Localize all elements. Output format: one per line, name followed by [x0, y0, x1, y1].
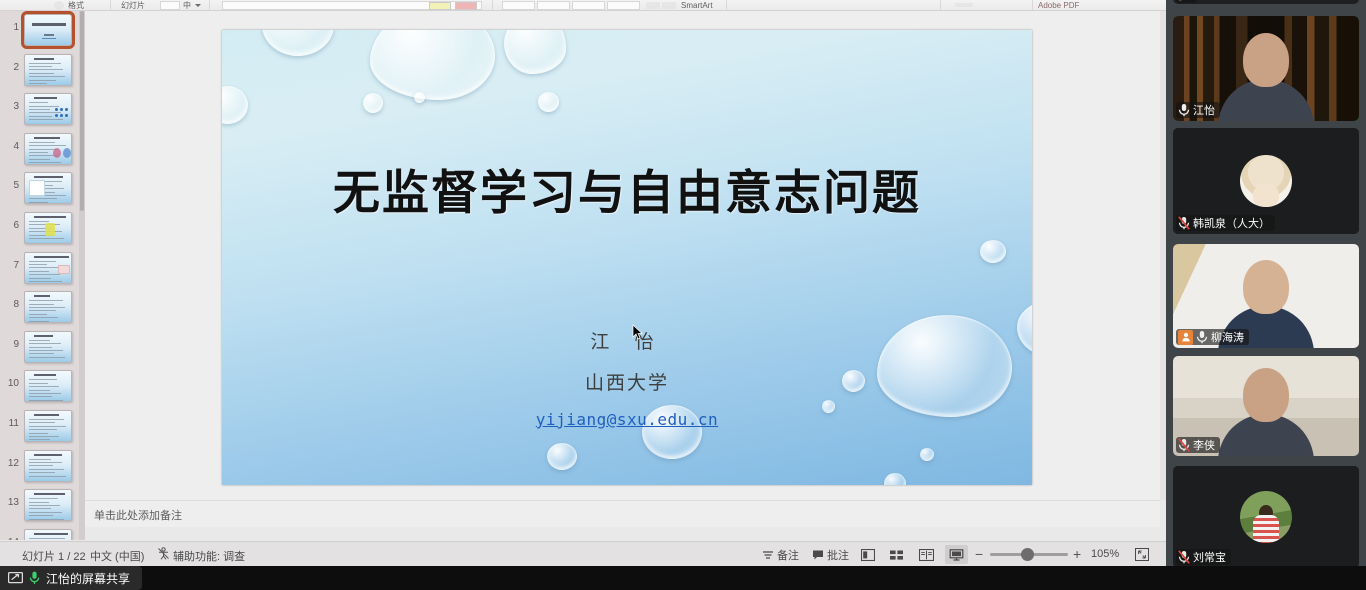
align-group-4[interactable] — [607, 1, 640, 10]
thumbnail-number: 4 — [5, 141, 19, 152]
participant-tile[interactable]: 李侠 — [1173, 356, 1359, 456]
slide-edit-area: 无监督学习与自由意志问题 江 怡 山西大学 yijiang@sxu.edu.cn — [85, 11, 1160, 500]
highlight-swatch[interactable] — [429, 2, 451, 10]
thumbnail-preview[interactable] — [24, 54, 72, 86]
slide-affiliation[interactable]: 山西大学 — [222, 368, 1032, 395]
comments-toggle-button[interactable]: 批注 — [808, 545, 853, 564]
chevron-down-icon[interactable] — [195, 4, 201, 7]
thumbnail-preview[interactable] — [24, 252, 72, 284]
thumbnail-number: 3 — [5, 101, 19, 112]
slide-counter[interactable]: 幻灯片 1 / 22 — [22, 548, 86, 564]
thumbnail-item[interactable]: 13 — [0, 486, 85, 526]
notes-toggle-button[interactable]: 备注 — [758, 545, 803, 564]
microphone-icon — [29, 571, 40, 585]
thumbnail-item[interactable]: 8 — [0, 288, 85, 328]
view-slideshow-button[interactable] — [945, 545, 968, 564]
share-label: 江怡的屏幕共享 — [46, 570, 130, 587]
bubble-decoration — [504, 30, 566, 74]
ribbon-label-smartart[interactable]: SmartArt — [681, 1, 713, 10]
bubble-decoration — [363, 93, 383, 113]
host-badge-icon — [1178, 330, 1193, 345]
mic-icon — [1196, 330, 1208, 344]
thumbnail-preview[interactable] — [24, 172, 72, 204]
thumbnail-number: 13 — [5, 497, 19, 508]
format-icon[interactable] — [54, 1, 64, 10]
participant-name-badge: 韩凯泉（人大） — [1176, 215, 1275, 231]
bubble-decoration — [920, 448, 934, 461]
language-indicator[interactable]: 中文 (中国) — [90, 548, 144, 564]
zoom-out-button[interactable]: − — [975, 547, 983, 561]
fit-to-window-button[interactable] — [1131, 545, 1153, 564]
thumbnail-item[interactable]: 10 — [0, 367, 85, 407]
participant-tile[interactable]: 韩凯泉（人大） — [1173, 128, 1359, 234]
screen-share-icon — [8, 572, 23, 585]
normal-view-icon — [861, 549, 875, 561]
thumbnail-item[interactable]: 5 — [0, 169, 85, 209]
thumbnail-item[interactable]: 1 — [0, 11, 85, 51]
participant-name-badge: 柳海涛 — [1176, 329, 1249, 345]
notes-icon — [762, 549, 774, 561]
thumbnail-number: 2 — [5, 62, 19, 73]
thumbnail-preview[interactable] — [24, 331, 72, 363]
zoom-slider-knob[interactable] — [1021, 548, 1034, 561]
slideshow-icon — [949, 549, 964, 561]
align-group-3[interactable] — [572, 1, 605, 10]
thumbnail-number: 6 — [5, 220, 19, 231]
thumbnail-preview[interactable] — [24, 370, 72, 402]
slide-title[interactable]: 无监督学习与自由意志问题 — [222, 154, 1032, 223]
thumbnail-preview[interactable] — [24, 489, 72, 521]
participant-name-badge: 江怡 — [1176, 102, 1220, 118]
mouse-cursor — [632, 324, 643, 340]
thumbnail-preview[interactable] — [24, 14, 72, 46]
notes-placeholder[interactable]: 单击此处添加备注 — [94, 507, 182, 523]
bubble-decoration — [222, 86, 248, 124]
avatar — [1240, 491, 1292, 543]
mic-icon — [1178, 103, 1190, 117]
thumbnail-number: 9 — [5, 339, 19, 350]
bubble-decoration — [884, 473, 906, 485]
thumbnail-preview[interactable] — [24, 93, 72, 125]
bubble-decoration — [538, 92, 559, 112]
slide-email-link[interactable]: yijiang@sxu.edu.cn — [222, 410, 1032, 429]
participant-name: 江怡 — [1193, 102, 1215, 118]
zoom-level-label[interactable]: 105% — [1091, 548, 1119, 560]
reading-view-icon — [919, 549, 934, 561]
ribbon-label-middle[interactable]: 中 — [183, 1, 191, 10]
mic-icon: 🎤 — [1178, 0, 1192, 2]
participant-tile[interactable]: 柳海涛 — [1173, 244, 1359, 348]
thumbnail-item[interactable]: 7 — [0, 249, 85, 289]
bubble-decoration — [414, 92, 425, 103]
participant-tile-partial[interactable]: 🎤 — [1173, 0, 1359, 4]
avatar — [1240, 155, 1292, 207]
powerpoint-window: 格式 幻灯片 中 SmartArt Adobe PDF 123456789101… — [0, 0, 1166, 566]
ribbon-label-format[interactable]: 格式 — [68, 1, 84, 10]
participant-tile[interactable]: 刘常宝 — [1173, 466, 1359, 568]
align-group-2[interactable] — [537, 1, 570, 10]
mic-muted-icon — [1178, 550, 1190, 564]
fit-window-icon — [1135, 548, 1149, 561]
bubble-decoration — [980, 240, 1006, 263]
thumbnail-number: 11 — [5, 418, 19, 429]
current-slide[interactable]: 无监督学习与自由意志问题 江 怡 山西大学 yijiang@sxu.edu.cn — [222, 30, 1032, 485]
bubble-decoration — [547, 443, 577, 470]
ribbon-strip: 格式 幻灯片 中 SmartArt Adobe PDF — [0, 0, 1166, 11]
participant-name-badge: 李侠 — [1176, 437, 1220, 453]
slide-thumbnail-pane[interactable]: 1234567891011121314 — [0, 11, 85, 540]
thumbnail-preview[interactable] — [24, 450, 72, 482]
participant-name-badge: 刘常宝 — [1176, 549, 1231, 565]
comment-icon — [812, 549, 824, 561]
accessibility-status[interactable]: 辅助功能: 调查 — [173, 548, 245, 564]
thumbnail-item[interactable]: 6 — [0, 209, 85, 249]
slide-sorter-icon — [890, 549, 904, 561]
participant-name: 李侠 — [1193, 437, 1215, 453]
os-taskbar: 江怡的屏幕共享 — [0, 566, 1366, 590]
layout-dropdown[interactable] — [160, 1, 180, 10]
zoom-in-button[interactable]: + — [1073, 547, 1081, 561]
accessibility-icon[interactable] — [157, 547, 170, 560]
bubble-decoration — [262, 30, 334, 56]
mic-muted-icon — [1178, 438, 1190, 452]
thumbnail-number: 12 — [5, 458, 19, 469]
screen-share-indicator[interactable]: 江怡的屏幕共享 — [0, 566, 142, 590]
arrange-icon[interactable] — [662, 2, 676, 9]
thumbnail-item[interactable]: 2 — [0, 51, 85, 91]
participant-tile[interactable]: 江怡 — [1173, 16, 1359, 121]
notes-button-label: 备注 — [777, 547, 799, 563]
thumbnail-number: 14 — [5, 537, 19, 540]
participant-name: 韩凯泉（人大） — [1193, 215, 1270, 231]
thumbnail-preview[interactable] — [24, 410, 72, 442]
participant-name-partial: 🎤 — [1176, 0, 1197, 3]
participant-name: 柳海涛 — [1211, 329, 1244, 345]
view-normal-button[interactable] — [857, 545, 879, 564]
thumbnail-item[interactable]: 12 — [0, 447, 85, 487]
thumbnail-preview[interactable] — [24, 529, 72, 540]
shapes-icon[interactable] — [646, 2, 660, 9]
thumbnail-number: 7 — [5, 260, 19, 271]
font-color-swatch[interactable] — [455, 2, 477, 10]
bubble-decoration — [370, 30, 495, 100]
comments-button-label: 批注 — [827, 547, 849, 563]
thumbnail-preview[interactable] — [24, 133, 72, 165]
slide-author[interactable]: 江 怡 — [222, 327, 1032, 354]
thumbnail-item[interactable]: 3 — [0, 90, 85, 130]
notes-pane[interactable]: 单击此处添加备注 — [85, 500, 1160, 527]
ribbon-label-slide[interactable]: 幻灯片 — [121, 1, 145, 10]
thumbnail-number: 8 — [5, 299, 19, 310]
thumbnail-item[interactable]: 9 — [0, 328, 85, 368]
thumbnail-item[interactable]: 11 — [0, 407, 85, 447]
thumbnail-number: 10 — [5, 378, 19, 389]
participant-name: 刘常宝 — [1193, 549, 1226, 565]
status-bar: 幻灯片 1 / 22 中文 (中国) 辅助功能: 调查 备注 批注 — [0, 541, 1166, 566]
thumbnail-item[interactable]: 14 — [0, 526, 85, 540]
thumbnail-number: 5 — [5, 180, 19, 191]
view-reading-button[interactable] — [915, 545, 938, 564]
thumbnail-preview[interactable] — [24, 212, 72, 244]
thumbnail-item[interactable]: 4 — [0, 130, 85, 170]
view-sorter-button[interactable] — [886, 545, 908, 564]
video-participants-panel: 🎤 江怡韩凯泉（人大）柳海涛李侠刘常宝 — [1166, 0, 1366, 566]
align-group-1[interactable] — [502, 1, 535, 10]
thumbnail-preview[interactable] — [24, 291, 72, 323]
mic-muted-icon — [1178, 216, 1190, 230]
designer-icon[interactable] — [955, 3, 973, 7]
thumbnail-scrollbar-thumb[interactable] — [80, 11, 84, 211]
thumbnail-number: 1 — [5, 22, 19, 33]
ribbon-label-adobe-pdf[interactable]: Adobe PDF — [1038, 1, 1079, 10]
